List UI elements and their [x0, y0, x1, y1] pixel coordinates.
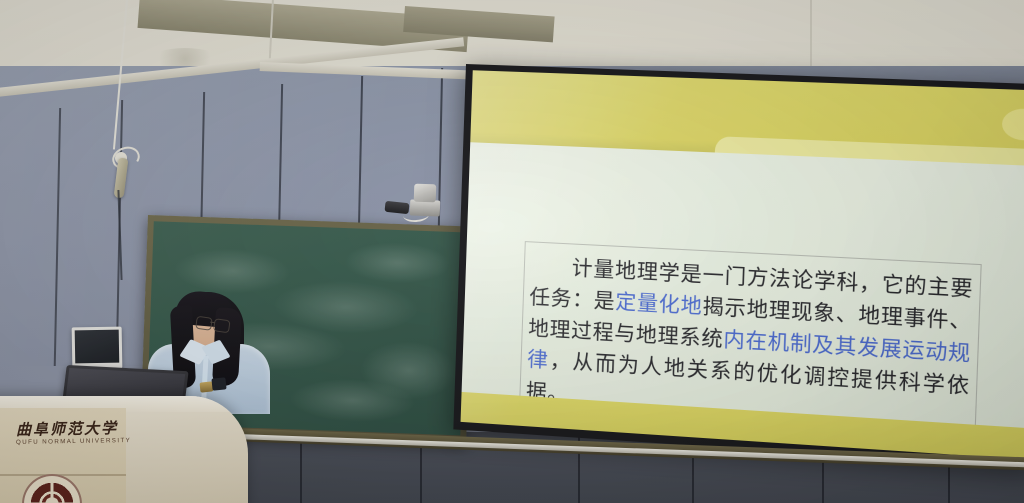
- monitor-screen: [75, 330, 120, 364]
- chalk-residue: [287, 376, 418, 425]
- shirt-pocket-badge: [211, 377, 226, 390]
- university-name-cn: 曲阜师范大学: [16, 417, 118, 440]
- classroom-photo: 计量地理学是一门方法论学科，它的主要任务：是定量化地揭示地理现象、地理事件、地理…: [0, 0, 1024, 503]
- slide-body: 计量地理学是一门方法论学科，它的主要任务：是定量化地揭示地理现象、地理事件、地理…: [462, 142, 1024, 428]
- wall-monitor: [72, 327, 123, 370]
- chalk-residue: [342, 240, 453, 286]
- slide-corner-decoration: [1001, 108, 1024, 141]
- glasses-lens-left: [195, 316, 213, 331]
- chalk-residue: [358, 339, 460, 403]
- glasses-lens-right: [213, 318, 231, 333]
- wall-panel-seam: [53, 108, 61, 366]
- lectern: 曲阜师范大学 QUFU NORMAL UNIVERSITY: [0, 396, 248, 503]
- projection-surface: 计量地理学是一门方法论学科，它的主要任务：是定量化地揭示地理现象、地理事件、地理…: [461, 70, 1024, 460]
- chalk-residue: [270, 277, 422, 336]
- lecture-camera-icon: [414, 184, 437, 203]
- crest-spoke-vertical: [51, 480, 54, 503]
- projection-screen: 计量地理学是一门方法论学科，它的主要任务：是定量化地揭示地理现象、地理事件、地理…: [453, 64, 1024, 469]
- slide-run-1-highlight: 定量化地: [615, 289, 703, 318]
